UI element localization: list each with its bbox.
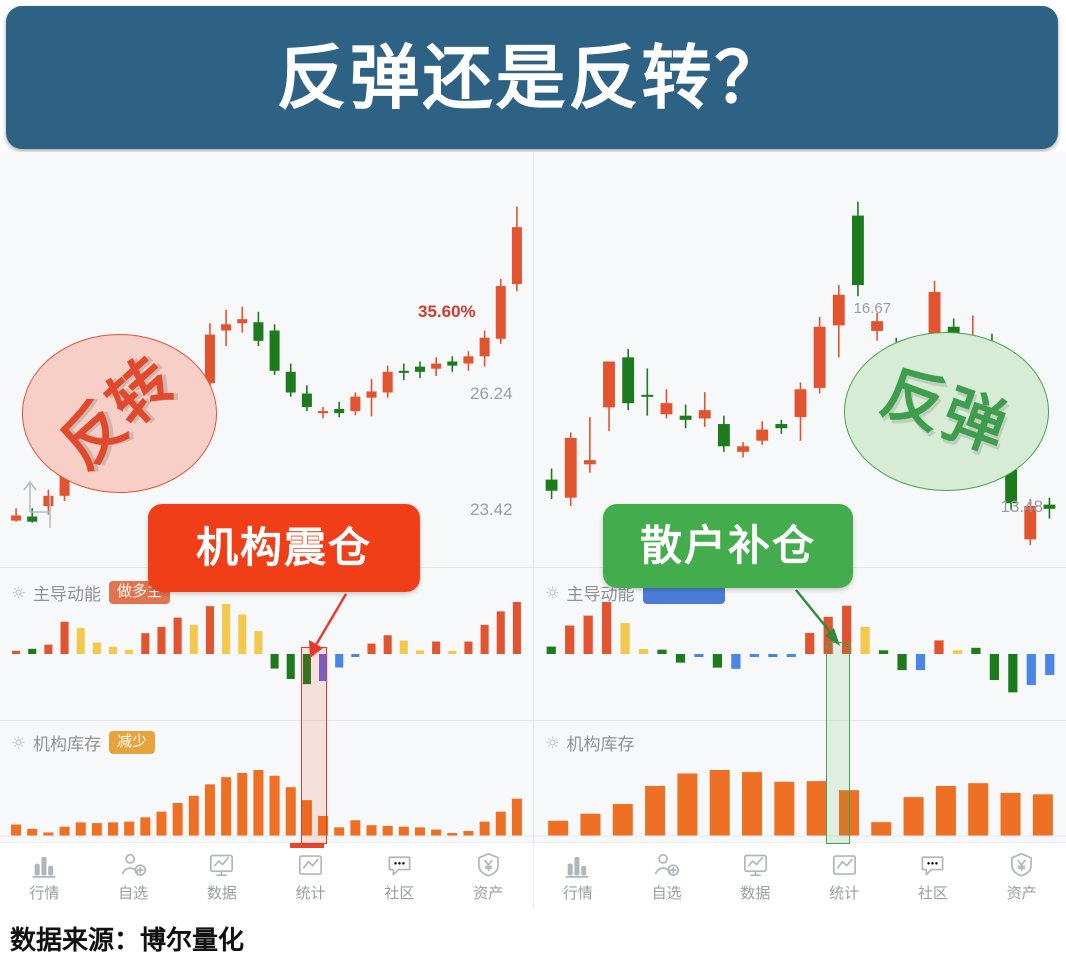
left-inventory-chart[interactable] [0, 755, 533, 842]
nav-item-label: 社区 [384, 882, 414, 903]
left-momentum-label: 主导动能 [33, 580, 101, 605]
shield-yen-icon [1008, 851, 1035, 878]
right-callout-bubble: 散户补仓 [603, 504, 853, 588]
chart-panes: 35.60% 26.24 23.42 20.90 20.48 反转 [0, 152, 1066, 842]
gear-icon [12, 736, 25, 749]
nav-item-label: 行情 [563, 882, 593, 903]
data-source-text: 数据来源：博尔量化 [10, 920, 244, 957]
chat-bubble-icon [919, 851, 946, 878]
nav-item-label: 资产 [1007, 882, 1037, 903]
right-inventory-label: 机构库存 [567, 730, 635, 755]
nav-item-统计[interactable]: 统计 [266, 843, 355, 910]
bottom-navbar[interactable]: 行情自选数据统计社区资产 行情自选数据统计社区资产 [0, 842, 1066, 910]
left-momentum-chart[interactable] [0, 592, 533, 737]
left-price-label-mid: 23.42 [470, 500, 513, 520]
person-add-icon [653, 851, 680, 878]
navbar-left-half[interactable]: 行情自选数据统计社区资产 [0, 843, 533, 910]
nav-item-label: 数据 [207, 882, 237, 903]
nav-item-自选[interactable]: 自选 [622, 843, 711, 910]
left-stamp-reversal: 反转 [22, 334, 215, 491]
page-root: 反弹还是反转？ 35.60% 26.24 23.42 20.90 20.48 反… [0, 0, 1066, 968]
navbar-right-half[interactable]: 行情自选数据统计社区资产 [533, 843, 1066, 910]
left-inventory-header[interactable]: 机构库存 减少 [12, 730, 155, 755]
right-top-label: 16.67 [854, 300, 892, 317]
right-price-label-mid: 13.48 [1001, 497, 1044, 517]
left-pct-high-label: 35.60% [418, 302, 476, 322]
nav-item-社区[interactable]: 社区 [355, 843, 444, 910]
gear-icon [12, 586, 25, 599]
left-callout-bubble: 机构震仓 [148, 504, 420, 592]
nav-item-label: 行情 [29, 882, 59, 903]
nav-item-label: 自选 [652, 882, 682, 903]
person-add-icon [120, 851, 147, 878]
page-title: 反弹还是反转？ [277, 43, 788, 113]
right-stamp-rebound: 反弹 [844, 332, 1047, 489]
nav-item-自选[interactable]: 自选 [89, 843, 178, 910]
shield-yen-icon [475, 851, 502, 878]
monitor-chart-icon [208, 851, 235, 878]
chart-box-icon [297, 851, 324, 878]
nav-item-label: 统计 [829, 882, 859, 903]
monitor-chart-icon [742, 851, 769, 878]
bars-icon [564, 851, 591, 878]
left-inventory-badge: 减少 [109, 731, 155, 754]
nav-item-label: 自选 [118, 882, 148, 903]
left-sep-2 [0, 720, 533, 721]
chat-bubble-icon [386, 851, 413, 878]
nav-item-社区[interactable]: 社区 [889, 843, 978, 910]
right-callout-arrow [790, 586, 860, 666]
chart-app-area: 35.60% 26.24 23.42 20.90 20.48 反转 [0, 152, 1066, 909]
nav-item-统计[interactable]: 统计 [800, 843, 889, 910]
right-callout-text: 散户补仓 [640, 525, 816, 567]
chart-box-icon [831, 851, 858, 878]
nav-item-资产[interactable]: 资产 [977, 843, 1066, 910]
gear-icon [546, 736, 559, 749]
footer-bar: 数据来源：博尔量化 [0, 909, 1066, 968]
nav-item-label: 社区 [918, 882, 948, 903]
title-banner: 反弹还是反转？ [6, 6, 1058, 149]
right-chart-pane[interactable]: 16.67 15.53 13.48 11.70 11.41 -31.55% 反弹 [533, 152, 1066, 842]
left-callout-arrow [300, 590, 360, 670]
bars-icon [31, 851, 58, 878]
left-callout-text: 机构震仓 [196, 527, 372, 569]
nav-item-label: 统计 [296, 882, 326, 903]
nav-item-label: 数据 [740, 882, 770, 903]
nav-item-label: 资产 [473, 882, 503, 903]
right-inventory-header[interactable]: 机构库存 [546, 730, 635, 755]
right-highlight-column [826, 642, 850, 844]
left-chart-pane[interactable]: 35.60% 26.24 23.42 20.90 20.48 反转 [0, 152, 533, 842]
left-highlight-column [301, 647, 327, 844]
gear-icon [546, 586, 559, 599]
left-momentum-header[interactable]: 主导动能 做多主 [12, 580, 170, 605]
nav-item-数据[interactable]: 数据 [178, 843, 267, 910]
nav-item-行情[interactable]: 行情 [0, 843, 89, 910]
right-inventory-chart[interactable] [534, 755, 1066, 842]
left-inventory-label: 机构库存 [33, 730, 101, 755]
nav-item-数据[interactable]: 数据 [711, 843, 800, 910]
left-price-label-high: 26.24 [470, 384, 513, 404]
nav-item-行情[interactable]: 行情 [534, 843, 623, 910]
right-sep-2 [534, 720, 1066, 721]
nav-item-资产[interactable]: 资产 [444, 843, 533, 910]
